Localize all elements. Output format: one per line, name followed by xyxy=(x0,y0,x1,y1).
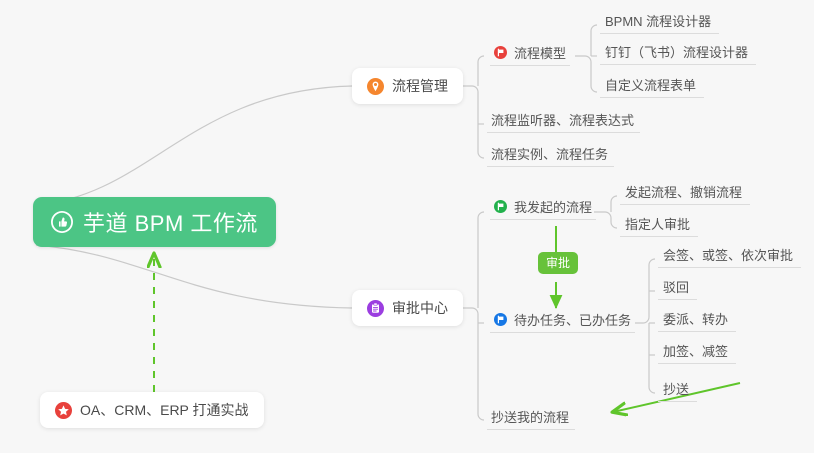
edge-root-to-shenpizhongxin xyxy=(36,245,352,308)
leaf-node-assigned-approver[interactable]: 指定人审批 xyxy=(620,214,698,237)
leaf-label: 发起流程、撤销流程 xyxy=(625,182,742,201)
star-icon xyxy=(55,402,72,419)
annotation-badge-approval[interactable]: 审批 xyxy=(538,252,578,274)
leaf-node-bpmn-designer[interactable]: BPMN 流程设计器 xyxy=(600,11,719,34)
leaf-label: 指定人审批 xyxy=(625,214,690,233)
root-label: 芋道 BPM 工作流 xyxy=(83,206,258,238)
edge-wofaqi-trunk xyxy=(594,212,617,228)
flag-icon xyxy=(494,46,507,59)
branch-label: 审批中心 xyxy=(392,298,448,318)
floating-node-integration[interactable]: OA、CRM、ERP 打通实战 xyxy=(40,392,264,428)
leaf-label: 钉钉（飞书）流程设计器 xyxy=(605,42,748,61)
flag-icon xyxy=(494,313,507,326)
branch-label: 流程管理 xyxy=(392,76,448,96)
subbranch-node-instance-task[interactable]: 流程实例、流程任务 xyxy=(487,144,614,167)
subbranch-node-cc-to-me[interactable]: 抄送我的流程 xyxy=(487,407,575,430)
leaf-node-custom-form[interactable]: 自定义流程表单 xyxy=(600,75,704,98)
thumbs-up-icon xyxy=(51,211,73,233)
edge-liuchengguanli-up xyxy=(478,56,484,86)
subbranch-label: 流程实例、流程任务 xyxy=(491,144,608,163)
root-node[interactable]: 芋道 BPM 工作流 xyxy=(33,197,276,247)
leaf-node-countersign[interactable]: 会签、或签、依次审批 xyxy=(658,245,801,268)
edge-liuchengguanli-trunk xyxy=(463,86,484,158)
edge-daiban-trunk-up xyxy=(649,259,655,317)
edge-liuchengmoxing-up xyxy=(591,25,597,56)
subbranch-label: 我发起的流程 xyxy=(514,197,592,216)
edge-shenpizhongxin-to-chaosong xyxy=(478,314,484,420)
edge-shenpizhongxin-stub xyxy=(463,308,478,314)
subbranch-node-process-model[interactable]: 流程模型 xyxy=(490,42,570,66)
leaf-label: 会签、或签、依次审批 xyxy=(663,245,793,264)
leaf-node-add-remove-sign[interactable]: 加签、减签 xyxy=(658,341,736,364)
leaf-node-reject[interactable]: 驳回 xyxy=(658,277,697,300)
edge-wofaqi-up xyxy=(611,196,617,212)
leaf-node-start-cancel-process[interactable]: 发起流程、撤销流程 xyxy=(620,182,750,205)
subbranch-node-todo-done-task[interactable]: 待办任务、已办任务 xyxy=(490,309,635,333)
leaf-label: 抄送 xyxy=(663,379,689,398)
leaf-node-dingtalk-designer[interactable]: 钉钉（飞书）流程设计器 xyxy=(600,42,756,65)
location-pin-icon xyxy=(367,78,384,95)
subbranch-label: 待办任务、已办任务 xyxy=(514,310,631,329)
subbranch-label: 流程模型 xyxy=(514,43,566,62)
flag-icon xyxy=(494,200,507,213)
branch-node-process-management[interactable]: 流程管理 xyxy=(352,68,463,104)
edge-root-to-liuchengguanli xyxy=(36,86,352,205)
leaf-label: BPMN 流程设计器 xyxy=(605,11,711,30)
annotation-badge-label: 审批 xyxy=(546,256,570,270)
edge-daiban-stub xyxy=(635,317,649,323)
floating-node-label: OA、CRM、ERP 打通实战 xyxy=(80,400,249,420)
subbranch-label: 流程监听器、流程表达式 xyxy=(491,110,634,129)
edge-shenpizhongxin-trunk xyxy=(478,212,484,308)
branch-node-approval-center[interactable]: 审批中心 xyxy=(352,290,463,326)
leaf-label: 驳回 xyxy=(663,277,689,296)
clipboard-icon xyxy=(367,300,384,317)
mindmap-canvas: 芋道 BPM 工作流 流程管理 流程模型 BPMN 流程设计器 钉钉（飞书）流程… xyxy=(0,0,814,453)
edge-liuchengmoxing-trunk xyxy=(575,56,597,92)
leaf-label: 加签、减签 xyxy=(663,341,728,360)
subbranch-node-my-started-process[interactable]: 我发起的流程 xyxy=(490,196,596,220)
subbranch-node-listener-expression[interactable]: 流程监听器、流程表达式 xyxy=(487,110,640,133)
leaf-label: 委派、转办 xyxy=(663,309,728,328)
leaf-label: 自定义流程表单 xyxy=(605,75,696,94)
leaf-node-delegate-transfer[interactable]: 委派、转办 xyxy=(658,309,736,332)
edge-daiban-trunk-down xyxy=(649,323,655,393)
leaf-node-cc[interactable]: 抄送 xyxy=(658,379,697,402)
subbranch-label: 抄送我的流程 xyxy=(491,407,569,426)
